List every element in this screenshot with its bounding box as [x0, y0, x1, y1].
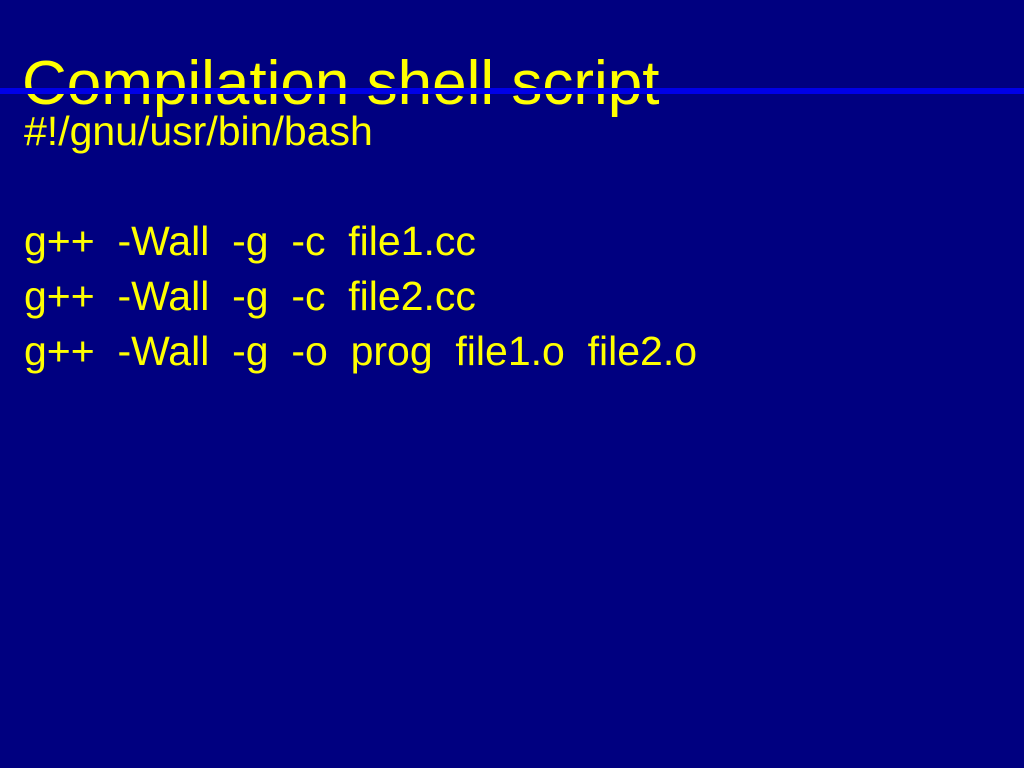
code-line: g++ -Wall -g -c file2.cc	[24, 269, 1014, 324]
code-line: g++ -Wall -g -o prog file1.o file2.o	[24, 324, 1014, 379]
code-line: #!/gnu/usr/bin/bash	[24, 104, 1014, 159]
title-divider	[0, 88, 1024, 94]
code-line: g++ -Wall -g -c file1.cc	[24, 214, 1014, 269]
slide-body: #!/gnu/usr/bin/bash g++ -Wall -g -c file…	[24, 104, 1014, 379]
presentation-slide: Compilation shell script #!/gnu/usr/bin/…	[0, 0, 1024, 768]
code-line-blank	[24, 159, 1014, 214]
